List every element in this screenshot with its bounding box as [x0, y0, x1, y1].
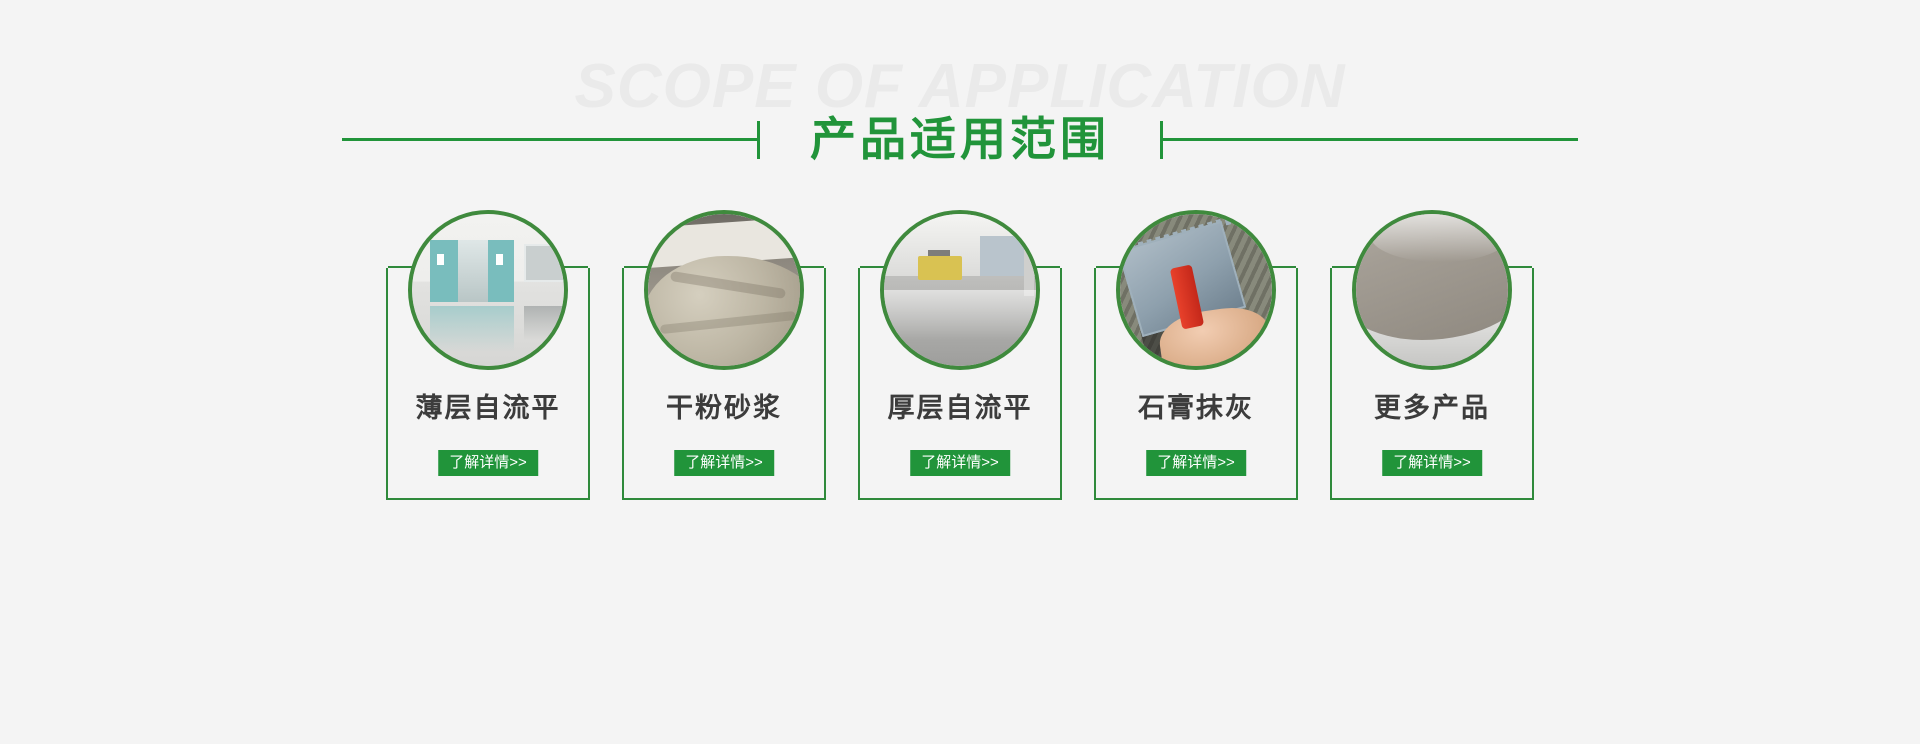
card-image-circle [408, 210, 568, 370]
title-tick-right [1160, 121, 1163, 159]
learn-more-button[interactable]: 了解详情>> [1382, 450, 1482, 476]
learn-more-button[interactable]: 了解详情>> [910, 450, 1010, 476]
page-title: 产品适用范围 [760, 116, 1160, 162]
application-cards: 薄层自流平 了解详情>> 干粉砂浆 了解详情>> 厚层自流平 了解详情>> [0, 210, 1920, 540]
card-label: 薄层自流平 [386, 395, 590, 422]
card-dry-powder-mortar[interactable]: 干粉砂浆 了解详情>> [622, 210, 826, 500]
learn-more-button[interactable]: 了解详情>> [674, 450, 774, 476]
card-image-circle [644, 210, 804, 370]
section-header: SCOPE OF APPLICATION 产品适用范围 [0, 0, 1920, 200]
card-thick-layer-self-leveling[interactable]: 厚层自流平 了解详情>> [858, 210, 1062, 500]
title-rule-left [342, 138, 760, 141]
card-label: 更多产品 [1330, 395, 1534, 422]
dry-powder-mortar-photo [648, 214, 800, 366]
card-image-circle [1352, 210, 1512, 370]
title-row: 产品适用范围 [0, 104, 1920, 174]
title-rule-right [1160, 138, 1578, 141]
title-tick-left [757, 121, 760, 159]
card-image-circle [1116, 210, 1276, 370]
gypsum-plastering-trowel-photo [1120, 214, 1272, 366]
card-thin-layer-self-leveling[interactable]: 薄层自流平 了解详情>> [386, 210, 590, 500]
card-more-products[interactable]: 更多产品 了解详情>> [1330, 210, 1534, 500]
card-gypsum-plastering[interactable]: 石膏抹灰 了解详情>> [1094, 210, 1298, 500]
card-label: 厚层自流平 [858, 395, 1062, 422]
card-image-circle [880, 210, 1040, 370]
more-products-photo [1356, 214, 1508, 366]
thin-layer-self-leveling-floor-photo [412, 214, 564, 366]
learn-more-button[interactable]: 了解详情>> [1146, 450, 1246, 476]
thick-layer-self-leveling-floor-photo [884, 214, 1036, 366]
card-label: 干粉砂浆 [622, 395, 826, 422]
card-label: 石膏抹灰 [1094, 395, 1298, 422]
learn-more-button[interactable]: 了解详情>> [438, 450, 538, 476]
